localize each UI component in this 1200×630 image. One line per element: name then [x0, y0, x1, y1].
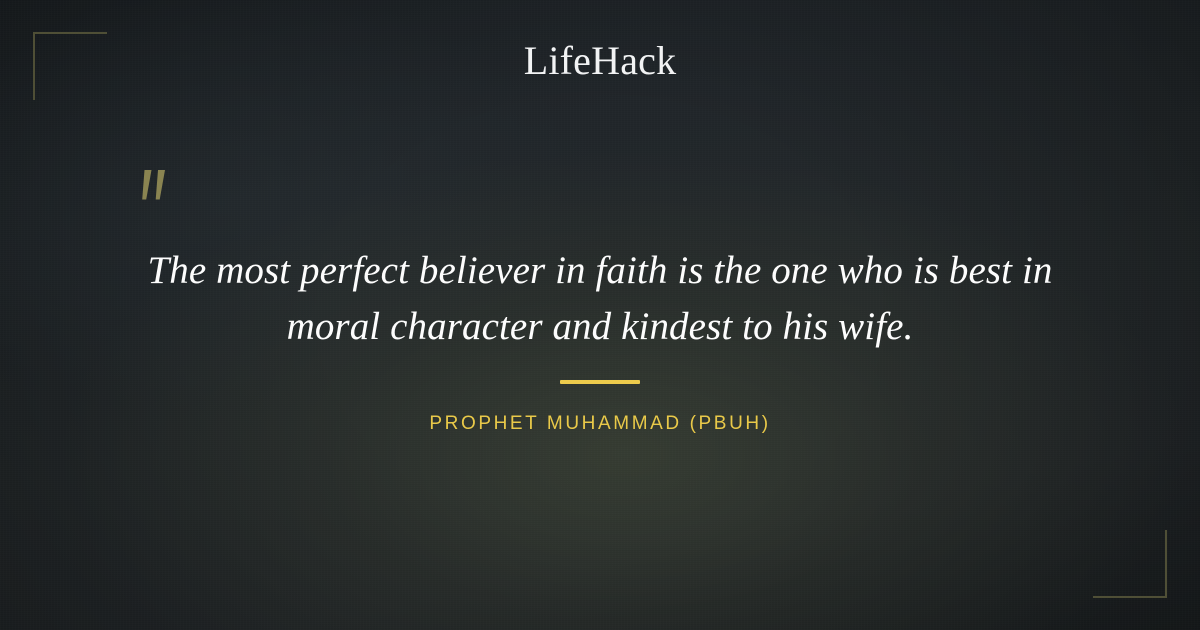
quote-card: LifeHack The most perfect believer in fa… — [0, 0, 1200, 630]
double-quote-icon — [131, 166, 187, 222]
quote-text: The most perfect believer in faith is th… — [100, 243, 1100, 355]
corner-bracket-bottom-right-icon — [1093, 530, 1167, 598]
lifehack-logo[interactable]: LifeHack — [0, 38, 1200, 84]
quote-attribution: PROPHET MUHAMMAD (PBUH) — [0, 411, 1200, 437]
divider-rule — [560, 380, 640, 384]
